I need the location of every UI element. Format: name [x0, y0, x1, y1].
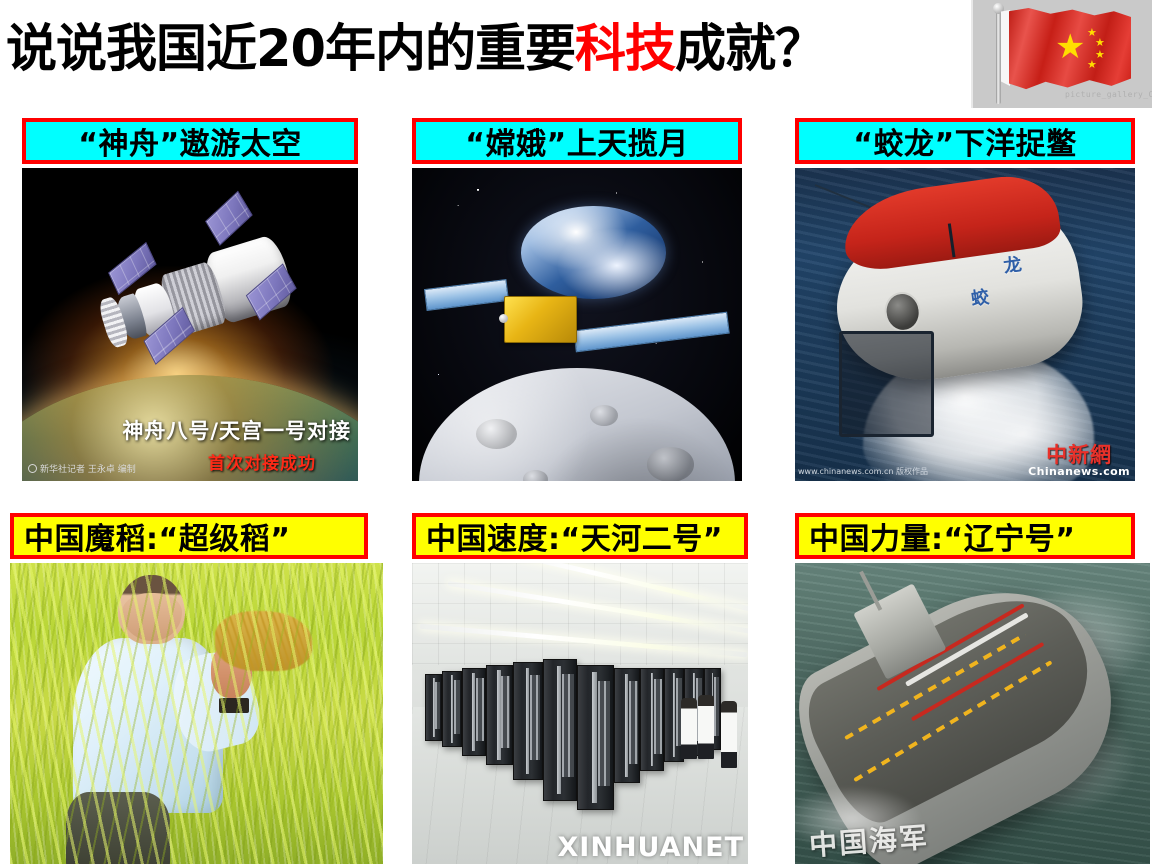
server-rack: [425, 674, 442, 740]
change-probe-body: [504, 296, 577, 343]
viewport-window: [881, 289, 923, 334]
flag-star-small-2-icon: ★: [1095, 37, 1105, 48]
navy-watermark: 中国海军: [808, 816, 931, 864]
watermark-english: Chinanews.com: [1028, 466, 1130, 478]
caption-shenzhou: “神舟”遨游太空: [22, 118, 358, 164]
title-suffix: 成就？: [675, 20, 825, 79]
caption-superrice: 中国魔稻:“超级稻”: [10, 513, 368, 559]
photo-liaoning: 中国海军: [795, 563, 1150, 864]
solar-panel-3: [205, 191, 253, 247]
flag-star-large-icon: ★: [1055, 30, 1085, 64]
server-rack: [640, 668, 664, 770]
presentation-slide: 说说我国近20年内的重要科技成就？ ★ ★ ★ ★ ★ picture_gall…: [0, 0, 1152, 864]
flag-star-small-4-icon: ★: [1087, 59, 1097, 70]
submersible-red-sail: [838, 169, 1062, 273]
photo-overlay-caption-shenzhou: 神舟八号/天宫一号对接: [122, 415, 351, 445]
photo-shenzhou: 神舟八号/天宫一号对接 首次对接成功 新华社记者 王永卓 编制: [22, 168, 358, 481]
photo-tianhe2: XINHUANET: [412, 563, 748, 864]
photo-superrice: [10, 563, 383, 864]
moon-crater-3: [647, 447, 695, 481]
technician: [681, 698, 697, 758]
sampling-basket-frame: [839, 331, 934, 437]
server-rack: [513, 662, 543, 779]
page-title: 说说我国近20年内的重要科技成就？: [6, 22, 966, 78]
technician: [698, 695, 714, 758]
chinanews-watermark: 中新網 Chinanews.com: [1028, 444, 1130, 478]
probe-solar-wing-left: [424, 279, 509, 311]
photo-credit-shenzhou: 新华社记者 王永卓 编制: [28, 462, 136, 475]
moon-crater-4: [523, 470, 548, 481]
watermark-chinese: 中新網: [1028, 444, 1130, 466]
flagpole-icon: [996, 6, 1001, 104]
flag-hoist: [1001, 10, 1010, 86]
photo-source-note: www.chinanews.com.cn 版权作品: [798, 466, 928, 477]
caption-liaoning: 中国力量:“辽宁号”: [795, 513, 1135, 559]
probe-solar-wing-right: [573, 312, 730, 353]
caption-jiaolong: “蛟龙”下洋捉鳖: [795, 118, 1135, 164]
photo-jiaolong: 蛟 龙 www.chinanews.com.cn 版权作品 中新網 Chinan…: [795, 168, 1135, 481]
photo-credit-text: 新华社记者 王永卓 编制: [40, 462, 136, 475]
deck-marking-yellow-1: [854, 660, 1053, 782]
server-rack: [614, 668, 641, 782]
rice-field-foliage: [10, 563, 383, 864]
moon-crater-1: [476, 419, 517, 449]
hull-decal-jiao: 蛟: [969, 283, 990, 311]
moon-surface: [419, 368, 736, 481]
technician: [721, 701, 737, 767]
moon-crater-2: [590, 405, 619, 426]
flag-cloth: ★ ★ ★ ★ ★: [1009, 8, 1131, 90]
server-rack: [462, 668, 486, 755]
photo-overlay-subcaption-shenzhou: 首次对接成功: [208, 449, 316, 474]
xinhuanet-watermark: XINHUANET: [557, 832, 744, 863]
hull-decal-long: 龙: [1001, 250, 1022, 278]
xinhua-logo-icon: [28, 464, 37, 473]
flag-image-watermark: picture_gallery_China: [1065, 90, 1152, 99]
caption-change: “嫦娥”上天揽月: [412, 118, 742, 164]
server-rack: [442, 671, 462, 746]
chinese-flag-image: ★ ★ ★ ★ ★ picture_gallery_China: [971, 0, 1152, 108]
server-rack: [486, 665, 513, 764]
earth-globe: [521, 206, 666, 300]
spacecraft-assembly: [106, 226, 301, 367]
title-prefix: 说说我国近20年内的重要: [6, 20, 575, 79]
server-rack: [577, 665, 614, 809]
caption-tianhe2: 中国速度:“天河二号”: [412, 513, 748, 559]
server-rack: [543, 659, 577, 800]
photo-change: [412, 168, 742, 481]
title-highlight: 科技: [575, 20, 675, 79]
